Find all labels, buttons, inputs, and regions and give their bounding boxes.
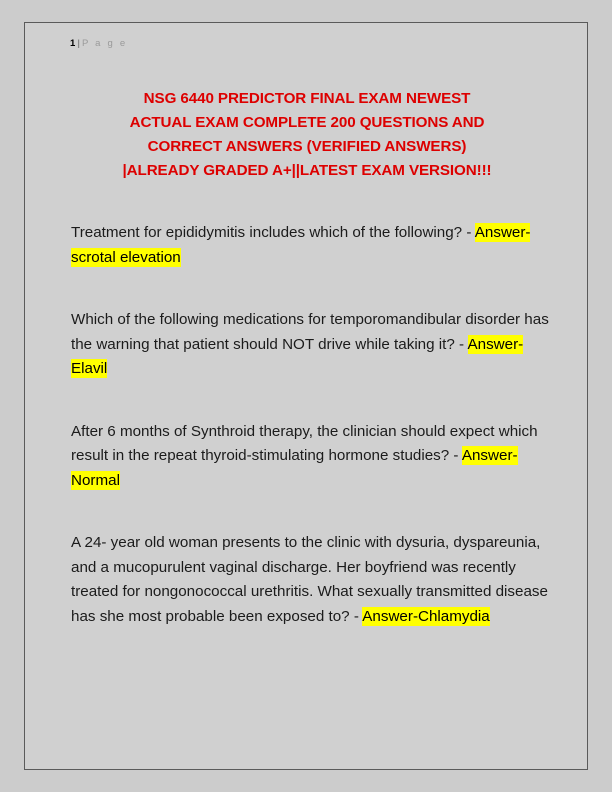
title-line-3: CORRECT ANSWERS (VERIFIED ANSWERS) <box>63 135 551 159</box>
qa-block: Which of the following medications for t… <box>71 308 549 382</box>
answer-highlight: Answer-Chlamydia <box>362 607 489 626</box>
page-label: P a g e <box>82 38 127 49</box>
page-number-separator: | <box>75 38 82 49</box>
document-title: NSG 6440 PREDICTOR FINAL EXAM NEWEST ACT… <box>63 87 551 183</box>
qa-block: After 6 months of Synthroid therapy, the… <box>71 420 549 494</box>
running-header: 1|P a g e <box>70 37 127 50</box>
page-content-area: 1|P a g e NSG 6440 PREDICTOR FINAL EXAM … <box>25 23 587 769</box>
qa-block: A 24- year old woman presents to the cli… <box>71 531 549 629</box>
title-line-4: |ALREADY GRADED A+||LATEST EXAM VERSION!… <box>63 159 551 183</box>
question-text: Treatment for epididymitis includes whic… <box>71 224 475 241</box>
question-answer-list: Treatment for epididymitis includes whic… <box>71 221 549 629</box>
qa-block: Treatment for epididymitis includes whic… <box>71 221 549 270</box>
title-line-1: NSG 6440 PREDICTOR FINAL EXAM NEWEST <box>63 87 551 111</box>
document-page: 1|P a g e NSG 6440 PREDICTOR FINAL EXAM … <box>24 22 588 770</box>
title-line-2: ACTUAL EXAM COMPLETE 200 QUESTIONS AND <box>63 111 551 135</box>
